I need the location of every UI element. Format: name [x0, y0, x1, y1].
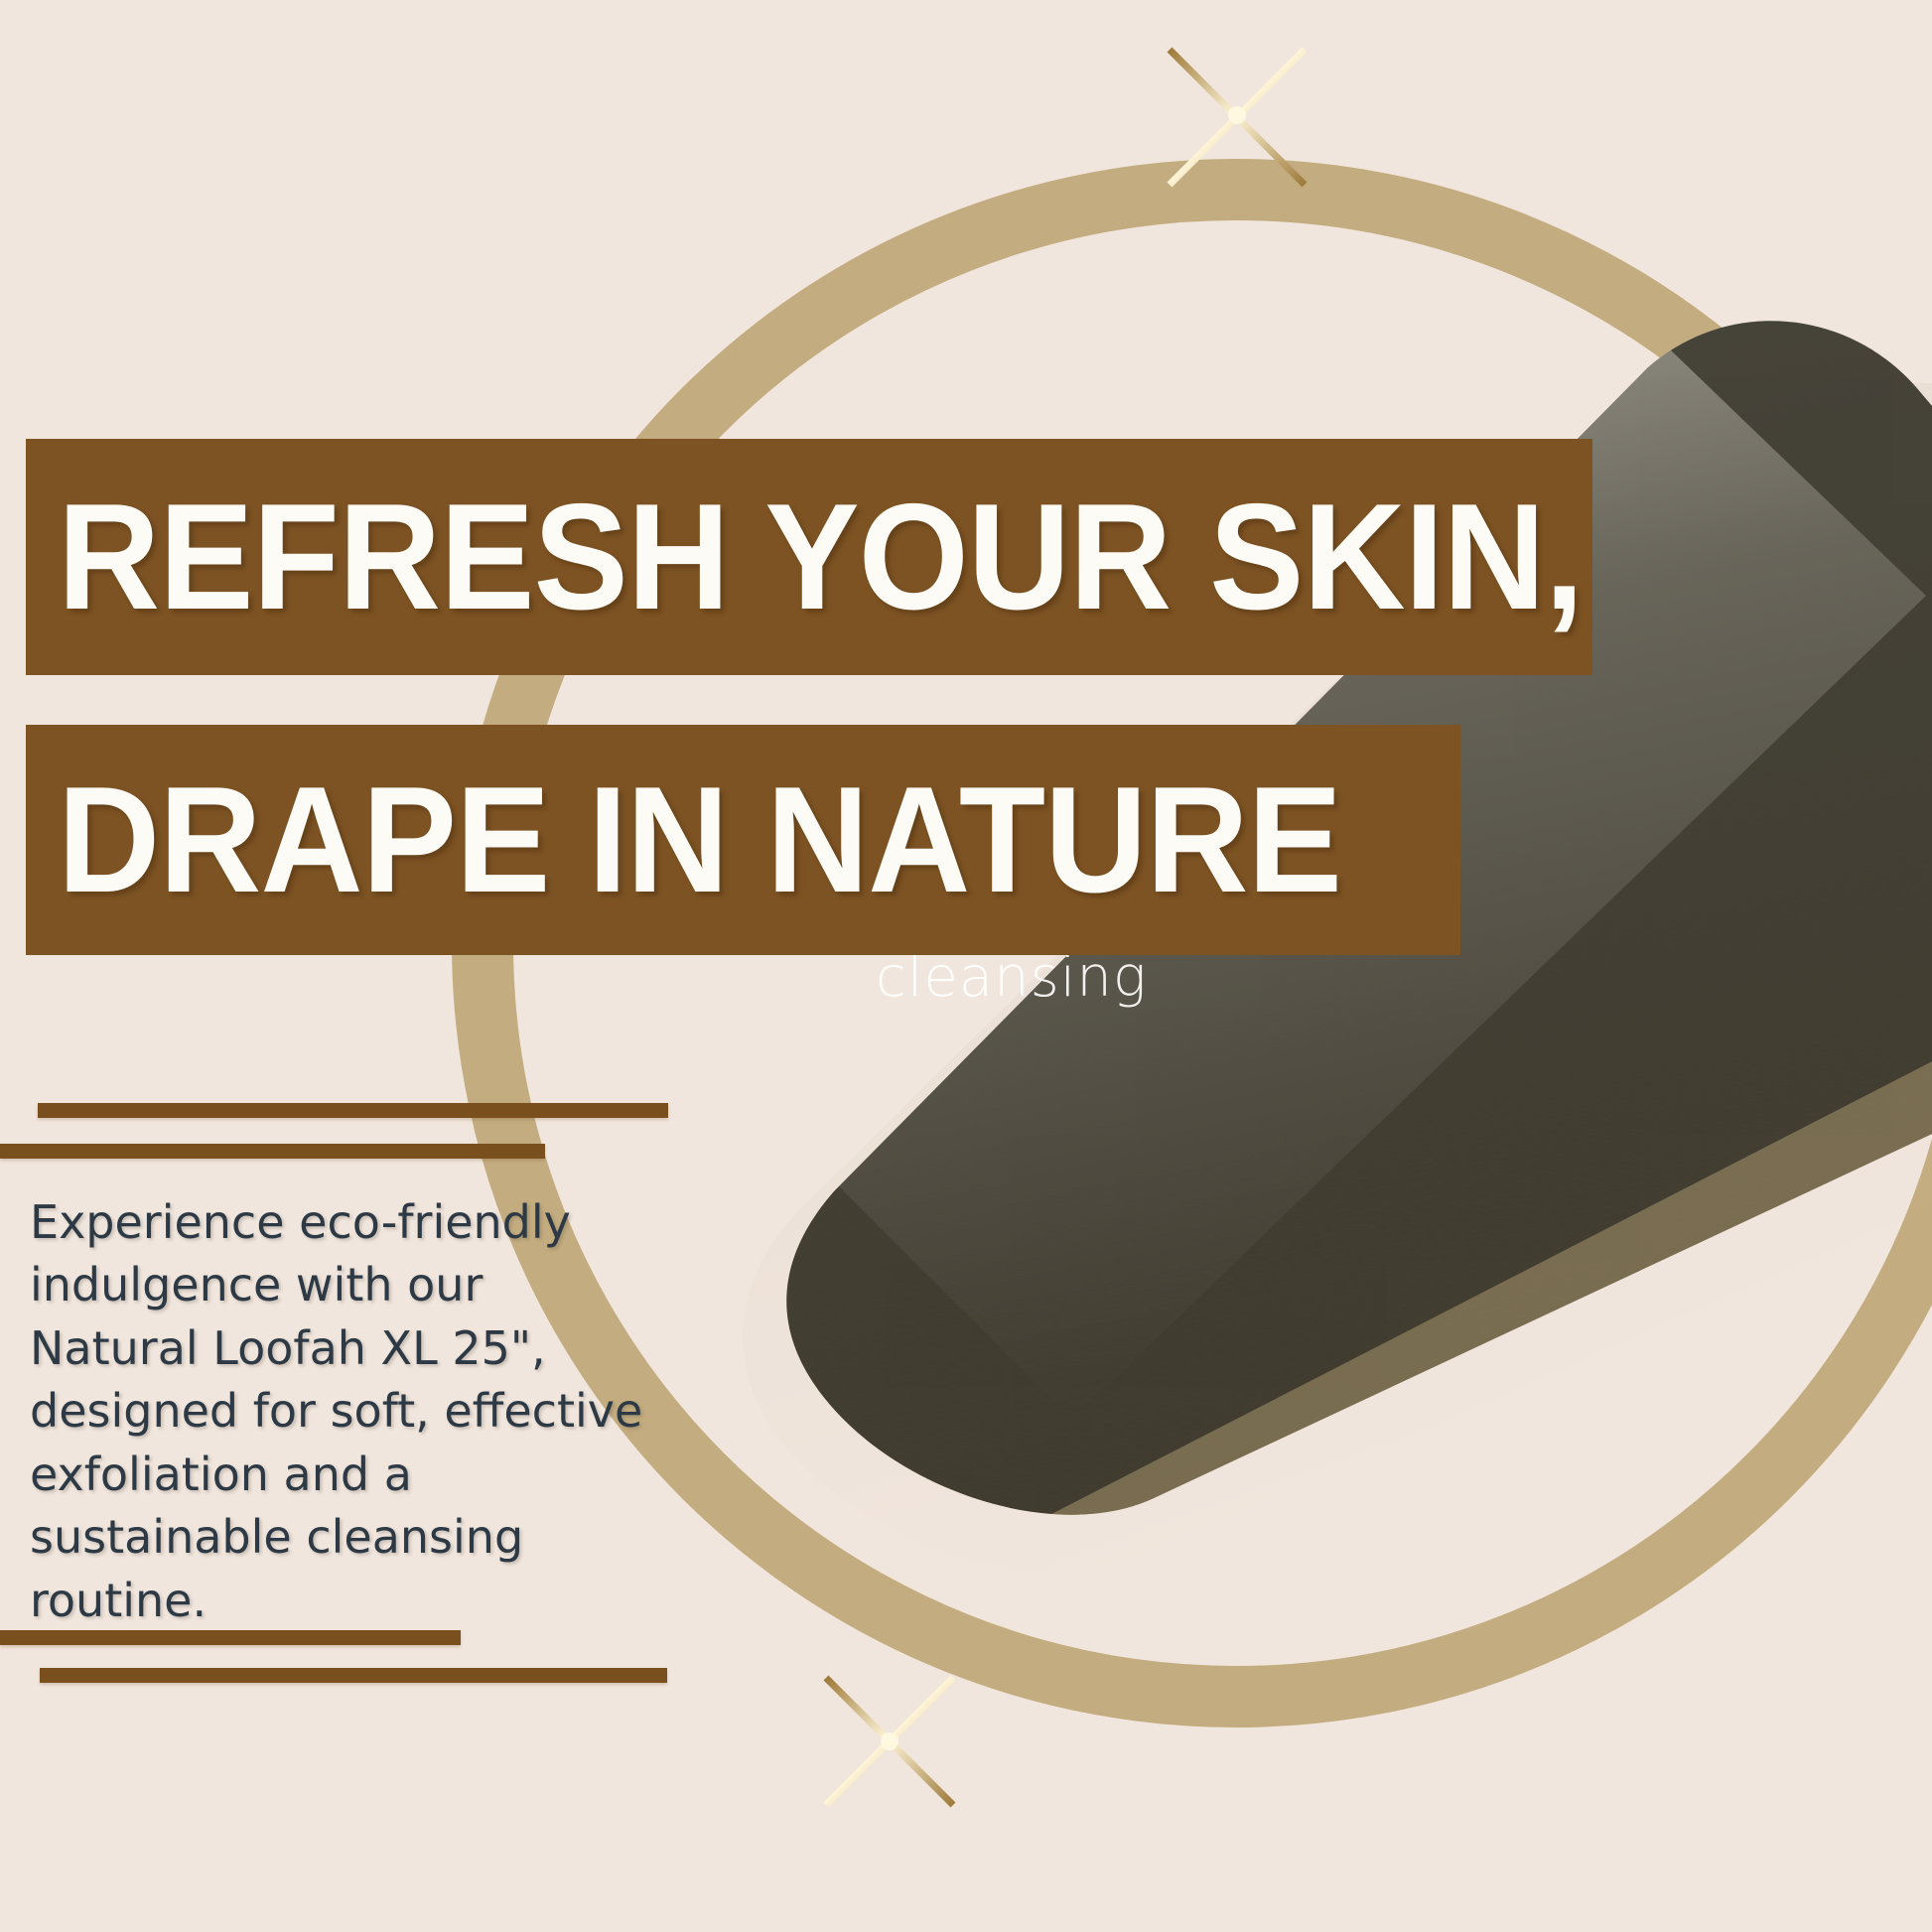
- divider-line-top-upper: [38, 1103, 668, 1118]
- headline-band-secondary: DRAPE IN NATURE: [26, 725, 1460, 955]
- sparkle-icon: [1130, 10, 1344, 224]
- sparkle-icon: [782, 1634, 997, 1849]
- divider-line-top-lower: [0, 1144, 545, 1159]
- headline-line-1: REFRESH YOUR SKIN,: [58, 482, 1583, 632]
- poster-canvas: cleansing REFRESH YOUR SKIN, DRAPE IN NA…: [0, 0, 1932, 1932]
- headline-band-primary: REFRESH YOUR SKIN,: [26, 439, 1592, 675]
- headline-line-2: DRAPE IN NATURE: [58, 764, 1341, 915]
- body-paragraph: Experience eco-friendly indulgence with …: [30, 1191, 665, 1632]
- divider-line-bottom-lower: [40, 1668, 667, 1683]
